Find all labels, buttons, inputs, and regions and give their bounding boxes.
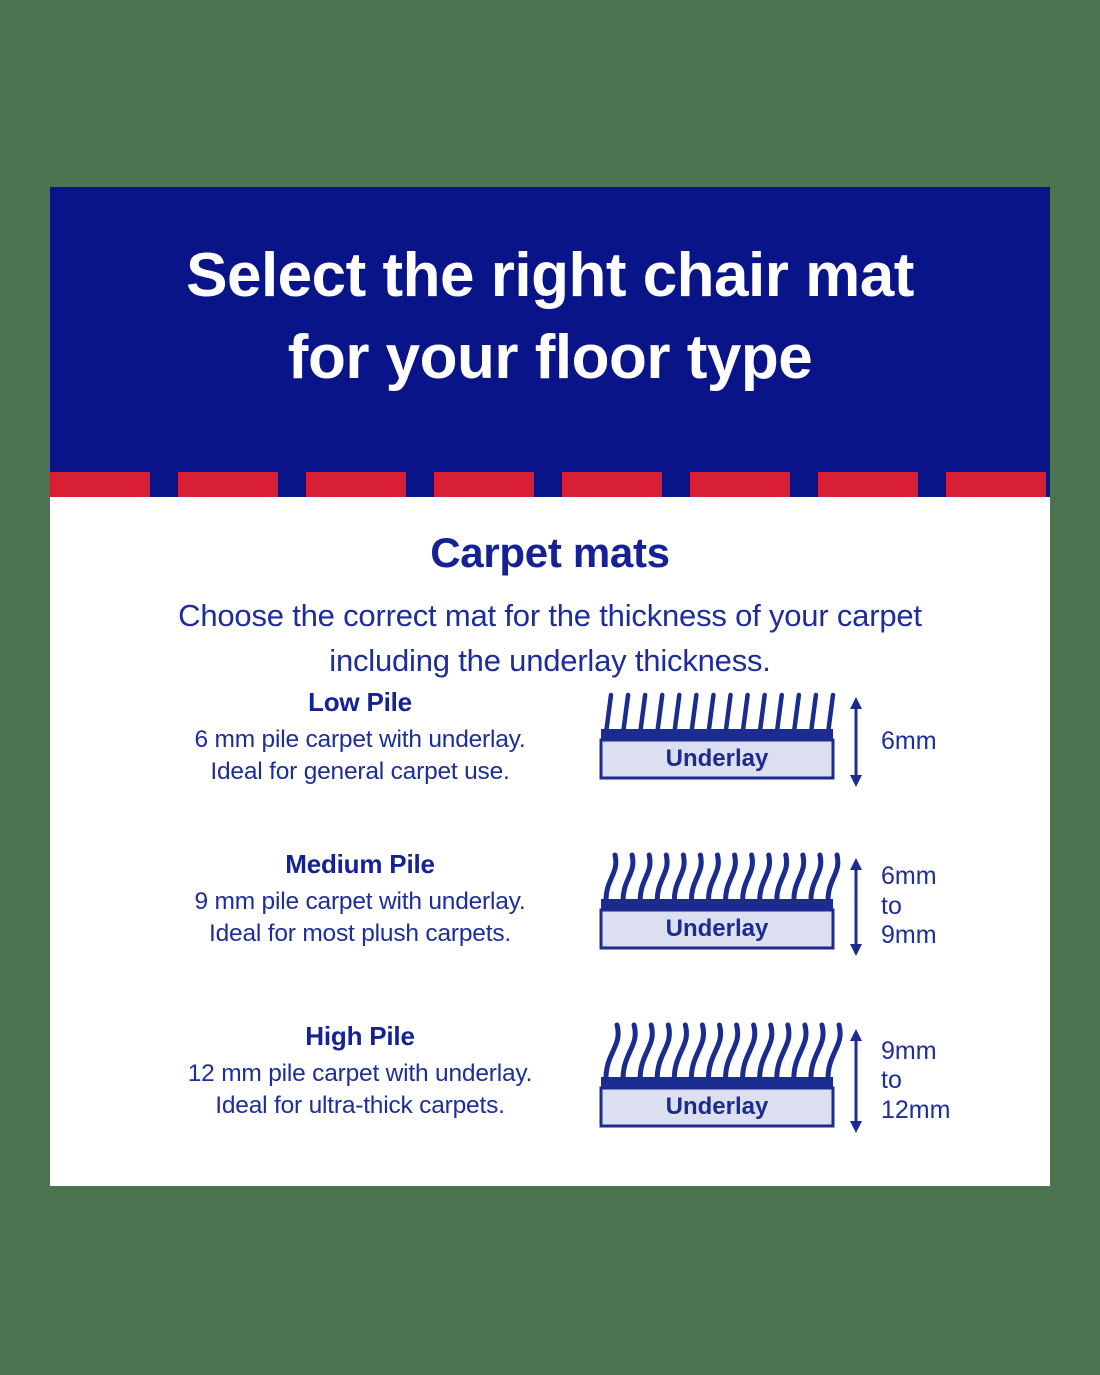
carpet-backing-bar bbox=[601, 899, 833, 910]
carpet-fiber bbox=[691, 855, 701, 903]
carpet-fiber bbox=[691, 1025, 703, 1081]
carpet-fiber bbox=[743, 1025, 755, 1081]
header-banner: Select the right chair mat for your floo… bbox=[50, 187, 1050, 472]
carpet-fiber bbox=[674, 1025, 686, 1081]
measure-arrow-icon bbox=[845, 1028, 867, 1134]
section-subtitle: Choose the correct mat for the thickness… bbox=[50, 593, 1050, 684]
carpet-fiber bbox=[623, 695, 628, 733]
stripe-dash bbox=[562, 472, 662, 497]
carpet-fiber bbox=[640, 1025, 652, 1081]
carpet-fiber bbox=[811, 1025, 823, 1081]
underlay-label: Underlay bbox=[666, 745, 769, 772]
carpet-fiber bbox=[674, 855, 684, 903]
measure-label: 6mm to 9mm bbox=[881, 862, 937, 951]
infographic-card: Select the right chair mat for your floo… bbox=[50, 187, 1050, 1186]
pile-description-line-2: Ideal for general carpet use. bbox=[145, 756, 575, 788]
section-subtitle-line-1: Choose the correct mat for the thickness… bbox=[50, 593, 1050, 638]
underlay-label: Underlay bbox=[666, 1093, 769, 1120]
carpet-fiber bbox=[708, 695, 713, 733]
carpet-fiber bbox=[743, 855, 753, 903]
carpet-fiber bbox=[725, 1025, 737, 1081]
pile-title: High Pile bbox=[145, 1021, 575, 1052]
pile-title: Medium Pile bbox=[145, 849, 575, 880]
pile-description-line-2: Ideal for most plush carpets. bbox=[145, 918, 575, 950]
carpet-cross-section-diagram: Underlay bbox=[595, 687, 845, 802]
medium-pile-svg: Underlay bbox=[595, 849, 845, 964]
measure-arrow-icon bbox=[845, 857, 867, 957]
carpet-fiber bbox=[760, 695, 765, 733]
carpet-cross-section-diagram: Underlay bbox=[595, 849, 845, 969]
page-title: Select the right chair mat for your floo… bbox=[50, 235, 1050, 399]
carpet-fiber bbox=[828, 855, 838, 903]
page-title-line-2: for your floor type bbox=[50, 317, 1050, 399]
pile-description-line-1: 9 mm pile carpet with underlay. bbox=[145, 886, 575, 918]
carpet-fiber bbox=[674, 695, 679, 733]
pile-description: 12 mm pile carpet with underlay. Ideal f… bbox=[145, 1058, 575, 1122]
carpet-fiber bbox=[606, 695, 611, 733]
high-pile-svg: Underlay bbox=[595, 1021, 845, 1141]
content-area: Carpet mats Choose the correct mat for t… bbox=[50, 497, 1050, 1186]
carpet-fibers bbox=[606, 1025, 840, 1081]
measure-arrow-icon bbox=[845, 696, 867, 788]
measure-label: 6mm bbox=[881, 727, 937, 757]
pile-row-text: Low Pile 6 mm pile carpet with underlay.… bbox=[145, 687, 575, 788]
pile-description: 9 mm pile carpet with underlay. Ideal fo… bbox=[145, 886, 575, 950]
carpet-fiber bbox=[794, 855, 804, 903]
pile-row-high: High Pile 12 mm pile carpet with underla… bbox=[50, 1021, 1050, 1161]
thickness-measure: 6mm bbox=[845, 687, 1005, 797]
pile-description: 6 mm pile carpet with underlay. Ideal fo… bbox=[145, 724, 575, 788]
carpet-backing-bar bbox=[601, 729, 833, 740]
carpet-fiber bbox=[725, 855, 735, 903]
carpet-fiber bbox=[657, 1025, 669, 1081]
carpet-fiber bbox=[606, 1025, 618, 1081]
stripe-dash bbox=[946, 472, 1046, 497]
pile-description-line-2: Ideal for ultra-thick carpets. bbox=[145, 1090, 575, 1122]
stripe-dash bbox=[818, 472, 918, 497]
carpet-fiber bbox=[828, 695, 833, 733]
stripe-dash bbox=[178, 472, 278, 497]
pile-description-line-1: 6 mm pile carpet with underlay. bbox=[145, 724, 575, 756]
carpet-fiber bbox=[606, 855, 616, 903]
carpet-fiber bbox=[657, 855, 667, 903]
carpet-fiber bbox=[794, 695, 799, 733]
carpet-fiber bbox=[794, 1025, 806, 1081]
red-dashed-divider bbox=[50, 472, 1050, 497]
carpet-backing-bar bbox=[601, 1077, 833, 1088]
carpet-fiber bbox=[640, 695, 645, 733]
carpet-fiber bbox=[640, 855, 650, 903]
section-subtitle-line-2: including the underlay thickness. bbox=[50, 638, 1050, 683]
measure-label: 9mm to 12mm bbox=[881, 1037, 950, 1126]
carpet-fiber bbox=[811, 855, 821, 903]
page-title-line-1: Select the right chair mat bbox=[50, 235, 1050, 317]
carpet-fiber bbox=[777, 855, 787, 903]
pile-title: Low Pile bbox=[145, 687, 575, 718]
carpet-fiber bbox=[760, 855, 770, 903]
pile-row-medium: Medium Pile 9 mm pile carpet with underl… bbox=[50, 849, 1050, 989]
stripe-dash bbox=[306, 472, 406, 497]
thickness-measure: 9mm to 12mm bbox=[845, 1021, 1005, 1141]
carpet-cross-section-diagram: Underlay bbox=[595, 1021, 845, 1146]
carpet-fiber bbox=[760, 1025, 772, 1081]
carpet-fibers bbox=[606, 695, 833, 733]
pile-description-line-1: 12 mm pile carpet with underlay. bbox=[145, 1058, 575, 1090]
pile-row-text: Medium Pile 9 mm pile carpet with underl… bbox=[145, 849, 575, 950]
carpet-fiber bbox=[623, 1025, 635, 1081]
stripe-dash bbox=[434, 472, 534, 497]
carpet-fiber bbox=[708, 855, 718, 903]
carpet-fiber bbox=[657, 695, 662, 733]
carpet-fiber bbox=[726, 695, 731, 733]
thickness-measure: 6mm to 9mm bbox=[845, 849, 1005, 964]
pile-row-low: Low Pile 6 mm pile carpet with underlay.… bbox=[50, 687, 1050, 827]
carpet-fiber bbox=[828, 1025, 840, 1081]
stripe-dash bbox=[690, 472, 790, 497]
carpet-fiber bbox=[811, 695, 816, 733]
carpet-fiber bbox=[777, 1025, 789, 1081]
section-title: Carpet mats bbox=[50, 529, 1050, 577]
underlay-label: Underlay bbox=[666, 915, 769, 942]
carpet-fibers bbox=[606, 855, 838, 903]
carpet-fiber bbox=[777, 695, 782, 733]
stripe-dash bbox=[50, 472, 150, 497]
carpet-fiber bbox=[743, 695, 748, 733]
carpet-fiber bbox=[691, 695, 696, 733]
low-pile-svg: Underlay bbox=[595, 687, 845, 797]
carpet-fiber bbox=[708, 1025, 720, 1081]
carpet-fiber bbox=[623, 855, 633, 903]
pile-row-text: High Pile 12 mm pile carpet with underla… bbox=[145, 1021, 575, 1122]
